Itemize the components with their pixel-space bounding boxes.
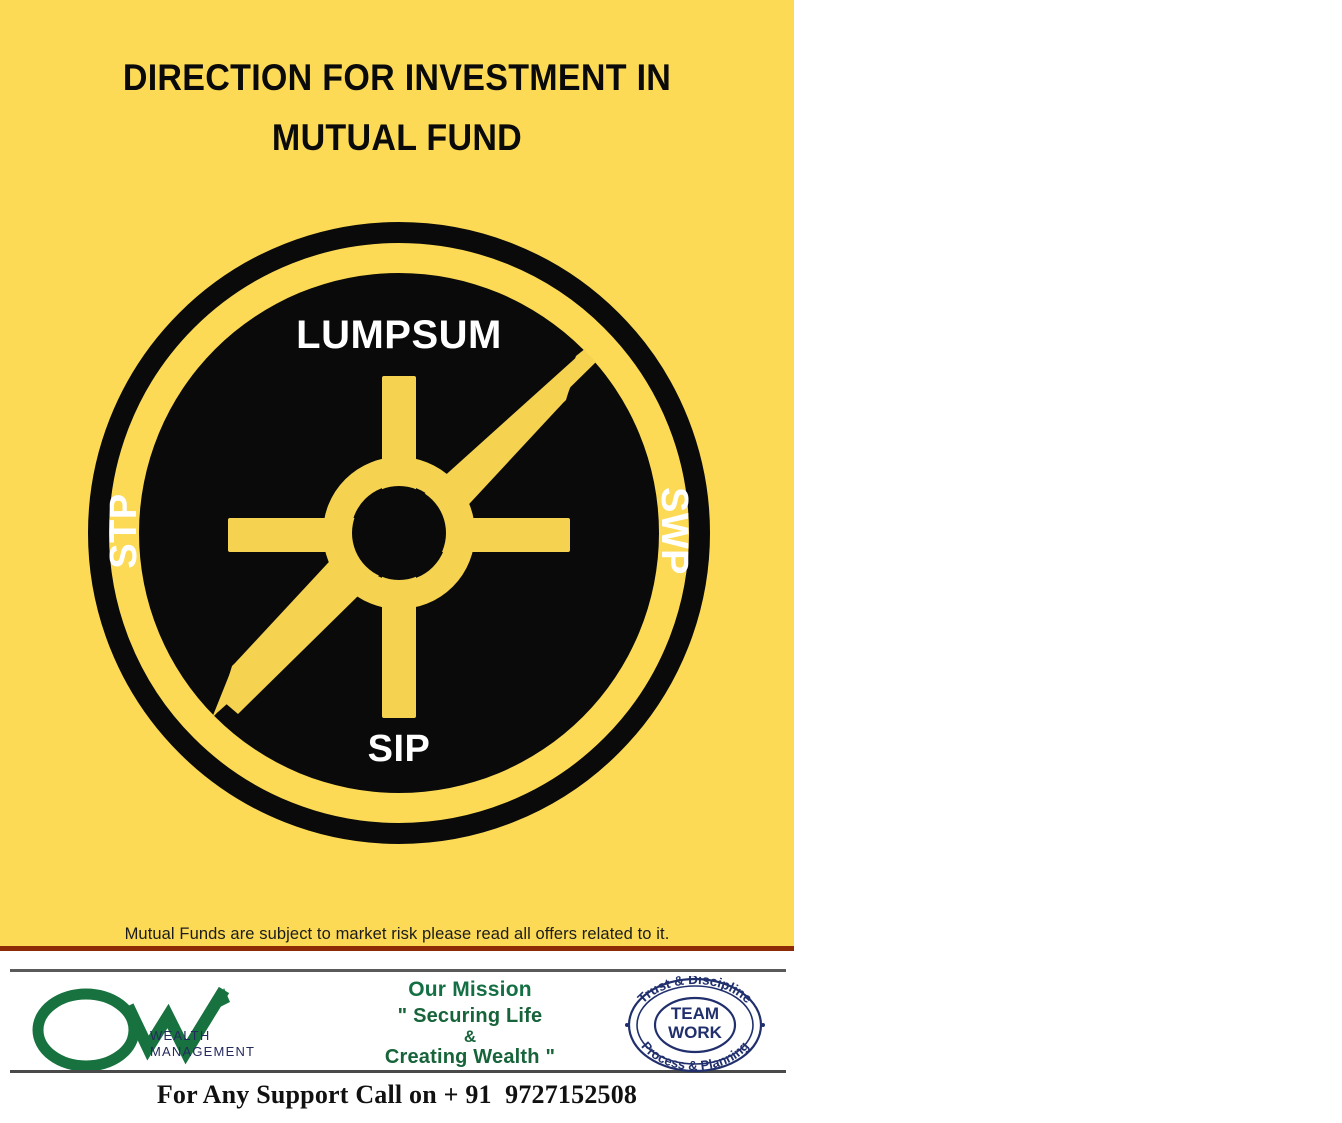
- footer-box: WEALTH MANAGEMENT Our Mission " Securing…: [10, 969, 786, 1073]
- compass-graphic: LUMPSUM SWP SIP STP: [88, 222, 710, 844]
- company-logo: WEALTH MANAGEMENT: [28, 980, 268, 1070]
- disclaimer-text: Mutual Funds are subject to market risk …: [0, 925, 794, 944]
- svg-text:Trust & Discipline: Trust & Discipline: [635, 976, 756, 1006]
- compass-label-stp: STP: [105, 451, 143, 611]
- seal-bottom-arc-text: Process & Planning: [638, 1039, 751, 1072]
- mission-line-1: " Securing Life: [345, 1005, 595, 1028]
- compass-label-sip: SIP: [88, 730, 710, 768]
- seal-top-arc-text: Trust & Discipline: [635, 976, 756, 1006]
- svg-text:Process & Planning: Process & Planning: [638, 1039, 751, 1072]
- poster-panel: DIRECTION FOR INVESTMENT IN MUTUAL FUND: [0, 0, 794, 950]
- mission-statement: Our Mission " Securing Life & Creating W…: [345, 978, 595, 1069]
- seal-center-text: TEAM WORK: [637, 1004, 753, 1042]
- page-title: DIRECTION FOR INVESTMENT IN MUTUAL FUND: [32, 48, 762, 168]
- mission-line-2: Creating Wealth ": [345, 1046, 595, 1069]
- mission-ampersand: &: [345, 1028, 595, 1046]
- logo-wordmark: WEALTH MANAGEMENT: [150, 1028, 255, 1061]
- support-contact-line: For Any Support Call on + 91 9727152508: [0, 1080, 794, 1110]
- compass-label-lumpsum: LUMPSUM: [88, 315, 710, 355]
- compass-label-swp: SWP: [655, 451, 693, 611]
- team-work-seal: Trust & Discipline Process & Planning TE…: [615, 976, 775, 1072]
- divider-rule: [0, 946, 794, 951]
- mission-heading: Our Mission: [345, 978, 595, 1002]
